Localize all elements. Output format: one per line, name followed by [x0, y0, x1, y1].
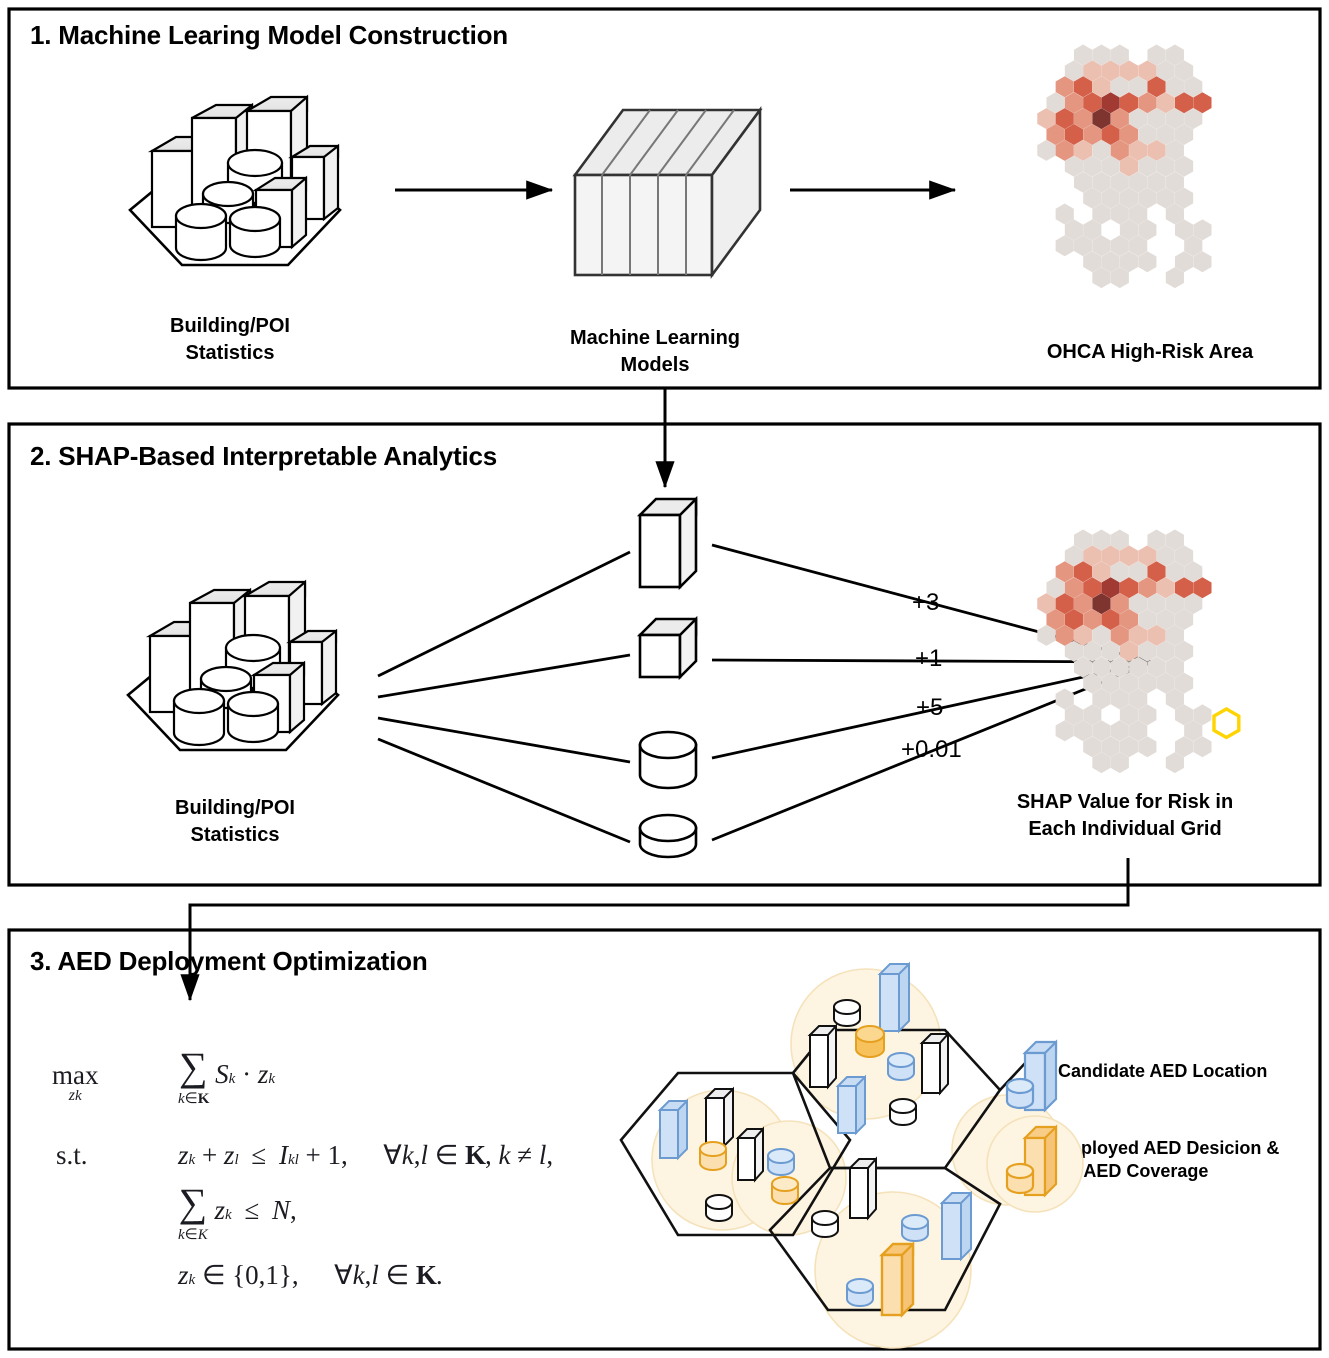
deployed-aed-marker[interactable]: [700, 1142, 726, 1170]
building-marker: [922, 1034, 948, 1093]
building-marker: [706, 1195, 732, 1221]
selected-grid-highlight[interactable]: [1214, 709, 1239, 738]
building-marker: [890, 1099, 916, 1125]
legend-icon-deployed: [987, 1116, 1083, 1212]
feature-shape-tall-box: [640, 499, 696, 587]
building-marker: [738, 1129, 763, 1180]
deployed-aed-marker[interactable]: [882, 1244, 913, 1315]
poi-cylinder: [230, 207, 280, 257]
deployed-aed-marker[interactable]: [856, 1026, 884, 1057]
shap-risk-heatmap-p2: [1037, 530, 1211, 774]
candidate-aed-marker[interactable]: [942, 1193, 971, 1259]
candidate-aed-marker[interactable]: [902, 1215, 928, 1241]
fan-line-2: [378, 655, 630, 697]
feature-fan-left: [378, 552, 630, 842]
poi-cylinder: [228, 692, 278, 742]
candidate-aed-marker[interactable]: [888, 1053, 914, 1080]
fan-line-1: [378, 552, 630, 676]
candidate-aed-marker[interactable]: [847, 1279, 873, 1306]
feature-shape-short-box: [640, 619, 696, 677]
candidate-aed-marker[interactable]: [660, 1101, 687, 1158]
building-marker: [706, 1089, 733, 1146]
candidate-aed-marker[interactable]: [880, 964, 909, 1031]
diagram-canvas: [0, 0, 1329, 1358]
deployed-aed-marker[interactable]: [772, 1177, 798, 1204]
building-poi-illustration-p2: [128, 582, 338, 750]
building-marker: [850, 1159, 876, 1218]
building-marker: [812, 1211, 838, 1237]
feature-shape-flat-cylinder: [640, 815, 696, 857]
ohca-risk-heatmap-p1: [1037, 45, 1211, 289]
machine-learning-model-icon: [575, 110, 760, 275]
candidate-aed-marker[interactable]: [838, 1077, 865, 1133]
candidate-aed-marker[interactable]: [768, 1149, 794, 1175]
poi-cylinder: [176, 204, 226, 260]
poi-cylinder: [174, 689, 224, 745]
building-marker: [810, 1026, 836, 1087]
building-poi-illustration-p1: [130, 97, 340, 265]
feature-shape-tall-cylinder: [640, 732, 696, 788]
building-marker: [834, 1000, 860, 1026]
